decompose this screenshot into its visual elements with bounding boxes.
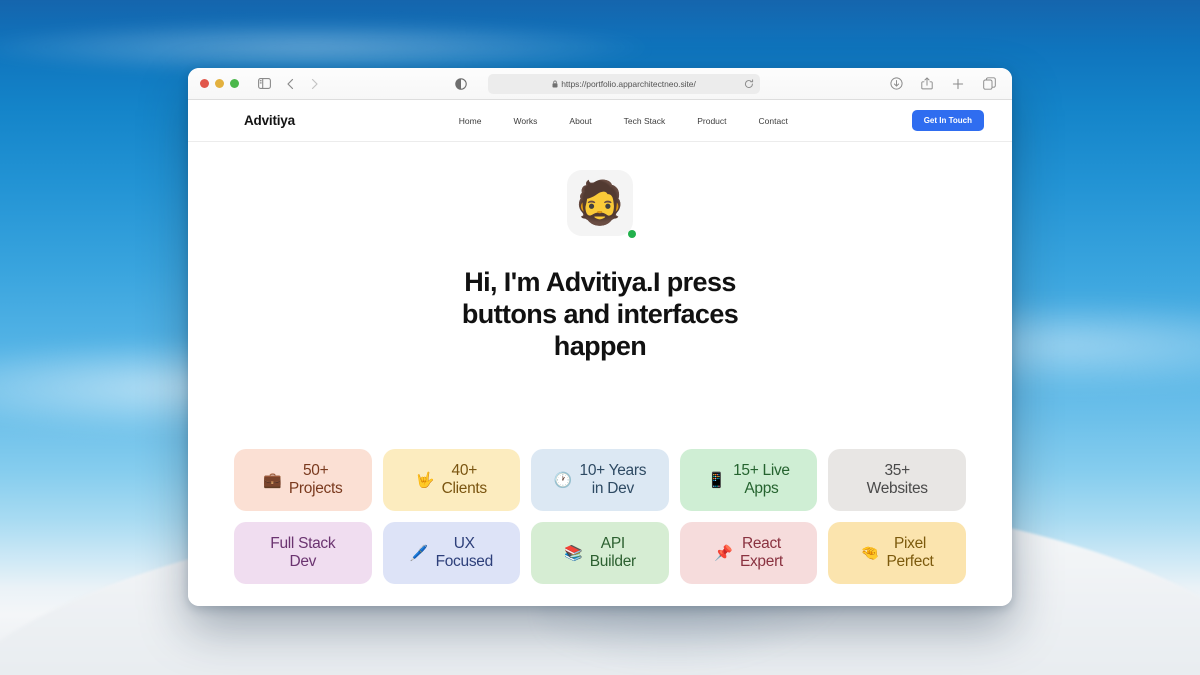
badge-label: 50+ Projects — [289, 462, 343, 497]
address-bar-content: https://portfolio.apparchitectneo.site/ — [552, 79, 696, 89]
avatar-memoji-icon: 🧔 — [574, 182, 626, 224]
badge-projects[interactable]: 💼 50+ Projects — [234, 449, 372, 511]
nav-links: Home Works About Tech Stack Product Cont… — [419, 116, 788, 126]
badge-label: Pixel Perfect — [887, 535, 934, 570]
badge-label: 40+ Clients — [442, 462, 487, 497]
window-controls — [200, 79, 239, 88]
address-bar[interactable]: https://portfolio.apparchitectneo.site/ — [488, 74, 760, 94]
badge-row-stats: 💼 50+ Projects 🤟 40+ Clients 🕐 10+ Years… — [234, 449, 966, 511]
maximize-window-button[interactable] — [230, 79, 239, 88]
badge-websites[interactable]: 35+ Websites — [828, 449, 966, 511]
badge-live-apps[interactable]: 📱 15+ Live Apps — [680, 449, 818, 511]
clock-icon: 🕐 — [554, 473, 573, 488]
toolbar-right-icons — [885, 73, 1000, 95]
badge-full-stack-dev[interactable]: Full Stack Dev — [234, 522, 372, 584]
pen-icon: 🖊️ — [410, 546, 429, 561]
badge-label: React Expert — [740, 535, 783, 570]
badge-react-expert[interactable]: 📌 React Expert — [680, 522, 818, 584]
badge-years-in-dev[interactable]: 🕐 10+ Years in Dev — [531, 449, 669, 511]
new-tab-icon[interactable] — [947, 73, 969, 95]
badge-pixel-perfect[interactable]: 🤏 Pixel Perfect — [828, 522, 966, 584]
url-text: https://portfolio.apparchitectneo.site/ — [561, 79, 696, 89]
pushpin-icon: 📌 — [714, 546, 733, 561]
love-you-hand-icon: 🤟 — [416, 473, 435, 488]
lock-icon — [552, 80, 558, 88]
online-status-dot — [628, 230, 636, 238]
tab-overview-icon[interactable] — [978, 73, 1000, 95]
badge-label: API Builder — [590, 535, 636, 570]
back-chevron-icon[interactable] — [279, 73, 301, 95]
nav-link-about[interactable]: About — [569, 116, 591, 126]
badge-row-skills: Full Stack Dev 🖊️ UX Focused 📚 API Build… — [234, 522, 966, 584]
stats-badge-grid: 💼 50+ Projects 🤟 40+ Clients 🕐 10+ Years… — [188, 449, 1012, 584]
badge-label: 35+ Websites — [867, 462, 928, 497]
site-navigation-bar: Advitiya Home Works About Tech Stack Pro… — [188, 100, 1012, 142]
forward-chevron-icon[interactable] — [303, 73, 325, 95]
browser-toolbar: https://portfolio.apparchitectneo.site/ — [188, 68, 1012, 100]
sidebar-toggle-icon[interactable] — [253, 73, 275, 95]
web-page-content: Advitiya Home Works About Tech Stack Pro… — [188, 100, 1012, 606]
browser-window: https://portfolio.apparchitectneo.site/ — [188, 68, 1012, 606]
close-window-button[interactable] — [200, 79, 209, 88]
desktop-background: https://portfolio.apparchitectneo.site/ — [0, 0, 1200, 675]
badge-label: Full Stack Dev — [270, 535, 335, 570]
badge-clients[interactable]: 🤟 40+ Clients — [383, 449, 521, 511]
nav-link-product[interactable]: Product — [697, 116, 726, 126]
nav-link-contact[interactable]: Contact — [759, 116, 788, 126]
badge-label: 10+ Years in Dev — [580, 462, 647, 497]
hero-section: 🧔 Hi, I'm Advitiya.I press buttons and i… — [188, 142, 1012, 606]
badge-api-builder[interactable]: 📚 API Builder — [531, 522, 669, 584]
briefcase-icon: 💼 — [263, 473, 282, 488]
nav-link-works[interactable]: Works — [513, 116, 537, 126]
contrast-half-circle-icon[interactable] — [450, 73, 472, 95]
downloads-icon[interactable] — [885, 73, 907, 95]
reload-icon[interactable] — [744, 79, 754, 89]
navigation-arrows — [279, 73, 325, 95]
pinching-hand-icon: 🤏 — [861, 546, 880, 561]
books-icon: 📚 — [564, 546, 583, 561]
cloud-wisp — [0, 20, 660, 75]
minimize-window-button[interactable] — [215, 79, 224, 88]
get-in-touch-button[interactable]: Get In Touch — [912, 110, 984, 131]
mobile-phone-icon: 📱 — [707, 473, 726, 488]
site-brand-logo[interactable]: Advitiya — [244, 113, 295, 128]
badge-label: 15+ Live Apps — [733, 462, 790, 497]
share-icon[interactable] — [916, 73, 938, 95]
avatar: 🧔 — [567, 170, 633, 236]
badge-label: UX Focused — [436, 535, 493, 570]
nav-link-tech-stack[interactable]: Tech Stack — [624, 116, 666, 126]
badge-ux-focused[interactable]: 🖊️ UX Focused — [383, 522, 521, 584]
page-title: Hi, I'm Advitiya.I press buttons and int… — [440, 266, 760, 362]
nav-link-home[interactable]: Home — [459, 116, 482, 126]
